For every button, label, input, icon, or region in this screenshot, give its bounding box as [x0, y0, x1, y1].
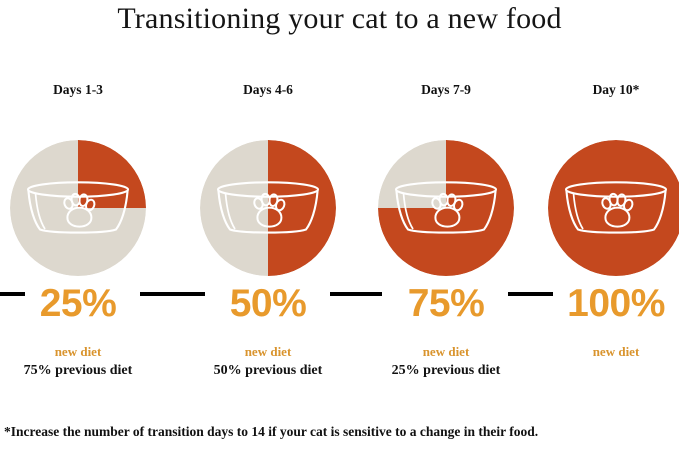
new-diet-label: new diet	[0, 344, 163, 360]
transition-step: Days 1-3 25% new diet 75% previo	[0, 82, 163, 382]
day-range-label: Days 7-9	[361, 82, 531, 98]
new-diet-percent: 25%	[0, 284, 163, 323]
paw-print-icon	[431, 193, 464, 226]
diet-ratio-pie	[200, 140, 336, 276]
diet-ratio-pie	[10, 140, 146, 276]
paw-print-icon	[63, 193, 96, 226]
day-range-label: Day 10*	[531, 82, 679, 98]
pet-food-bowl-icon	[208, 180, 328, 238]
previous-diet-label: 25% previous diet	[361, 363, 531, 379]
footnote-text: *Increase the number of transition days …	[4, 424, 675, 440]
pet-food-bowl-icon	[386, 180, 506, 238]
day-range-label: Days 4-6	[183, 82, 353, 98]
pet-food-bowl-icon	[556, 180, 676, 238]
transition-step: Day 10* 100% new diet	[531, 82, 679, 382]
previous-diet-label: 50% previous diet	[183, 363, 353, 379]
paw-print-icon	[253, 193, 286, 226]
diet-ratio-pie	[378, 140, 514, 276]
new-diet-label: new diet	[183, 344, 353, 360]
transition-step: Days 4-6 50% new diet 50% previo	[183, 82, 353, 382]
transition-step: Days 7-9 75% new diet 25% previo	[361, 82, 531, 382]
new-diet-percent: 50%	[183, 284, 353, 323]
new-diet-percent: 100%	[531, 284, 679, 323]
day-range-label: Days 1-3	[0, 82, 163, 98]
pet-food-bowl-icon	[18, 180, 138, 238]
new-diet-percent: 75%	[361, 284, 531, 323]
page-title: Transitioning your cat to a new food	[0, 2, 679, 36]
new-diet-label: new diet	[361, 344, 531, 360]
paw-print-icon	[601, 193, 634, 226]
new-diet-label: new diet	[531, 344, 679, 360]
diet-ratio-pie	[548, 140, 679, 276]
previous-diet-label: 75% previous diet	[0, 363, 163, 379]
transition-steps: Days 1-3 25% new diet 75% previo	[0, 82, 679, 382]
